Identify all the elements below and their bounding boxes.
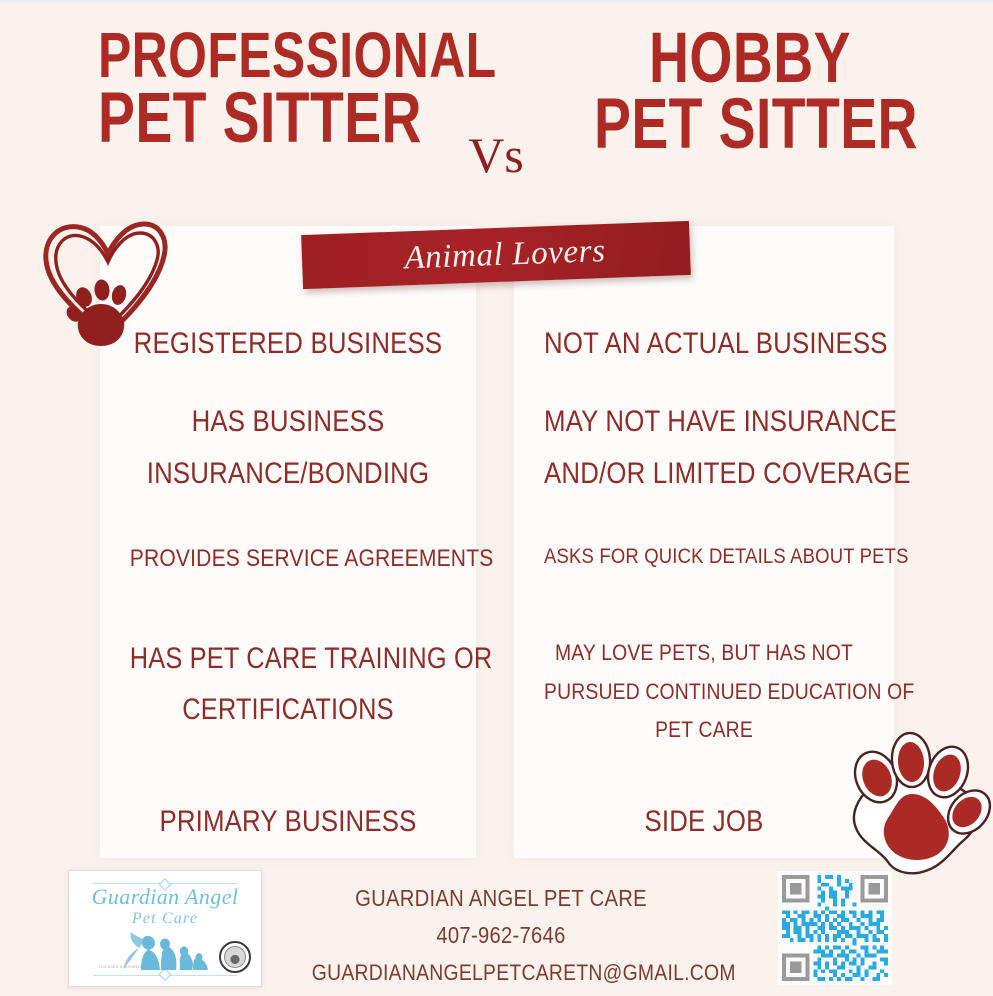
- infographic-poster: PROFESSIONAL PET SITTER Vs HOBBY PET SIT…: [0, 0, 993, 996]
- list-item-line: REGISTERED BUSINESS: [130, 318, 446, 370]
- certification-badge-icon: [219, 941, 251, 973]
- heart-paw-icon: [32, 198, 172, 353]
- list-item-line: PET CARE: [544, 711, 864, 750]
- list-item: MAY LOVE PETS, BUT HAS NOTPURSUED CONTIN…: [518, 634, 890, 750]
- heading-right-line1: HOBBY: [594, 26, 906, 92]
- guardian-angel-logo: Guardian Angel Pet Care LICENSED & INSUR…: [68, 870, 262, 987]
- paw-print-icon: [836, 724, 992, 876]
- list-item: MAY NOT HAVE INSURANCEAND/OR LIMITED COV…: [518, 396, 890, 499]
- heading-professional-pet-sitter: PROFESSIONAL PET SITTER: [54, 26, 454, 152]
- list-item-line: PURSUED CONTINUED EDUCATION OF: [544, 673, 864, 712]
- logo-subtitle: Pet Care: [132, 911, 198, 927]
- list-item-line: HAS BUSINESS: [130, 396, 446, 448]
- list-item-line: MAY NOT HAVE INSURANCE: [544, 396, 864, 448]
- list-item: HAS PET CARE TRAINING ORCERTIFICATIONS: [104, 634, 472, 735]
- list-item: PRIMARY BUSINESS: [104, 796, 472, 848]
- top-edge-strip: [0, 0, 993, 5]
- heading-left-line2: PET SITTER: [98, 86, 410, 152]
- footer-email[interactable]: GUARDIANANGELPETCARETN@GMAIL.COM: [312, 955, 690, 991]
- heading-hobby-pet-sitter: HOBBY PET SITTER: [550, 26, 950, 158]
- list-item-line: PROVIDES SERVICE AGREEMENTS: [130, 538, 446, 580]
- list-item-line: SIDE JOB: [544, 796, 864, 848]
- versus-label: Vs: [456, 126, 536, 184]
- list-item: ASKS FOR QUICK DETAILS ABOUT PETS: [518, 538, 890, 575]
- list-item: HAS BUSINESSINSURANCE/BONDING: [104, 396, 472, 499]
- list-item-line: PRIMARY BUSINESS: [130, 796, 446, 848]
- footer-business-name: GUARDIAN ANGEL PET CARE: [312, 880, 690, 917]
- heading-left-line1: PROFESSIONAL: [98, 26, 410, 86]
- logo-fineprint: LICENSED & INSURED: [85, 965, 155, 970]
- list-item-line: HAS PET CARE TRAINING OR: [130, 634, 446, 685]
- list-item: NOT AN ACTUAL BUSINESS: [518, 318, 890, 370]
- list-item-line: AND/OR LIMITED COVERAGE: [544, 448, 864, 500]
- list-item-line: CERTIFICATIONS: [130, 685, 446, 736]
- list-item: PROVIDES SERVICE AGREEMENTS: [104, 538, 472, 580]
- list-item: SIDE JOB: [518, 796, 890, 848]
- footer-phone[interactable]: 407-962-7646: [312, 917, 690, 954]
- list-item-line: INSURANCE/BONDING: [130, 448, 446, 500]
- list-item-line: MAY LOVE PETS, BUT HAS NOT: [544, 634, 864, 673]
- logo-title: Guardian Angel: [92, 886, 239, 908]
- qr-code[interactable]: [778, 871, 892, 985]
- heading-right-line2: PET SITTER: [594, 92, 906, 158]
- footer-contact: GUARDIAN ANGEL PET CARE 407-962-7646 GUA…: [286, 880, 716, 990]
- list-item-line: ASKS FOR QUICK DETAILS ABOUT PETS: [544, 538, 864, 575]
- list-item-line: NOT AN ACTUAL BUSINESS: [544, 318, 864, 370]
